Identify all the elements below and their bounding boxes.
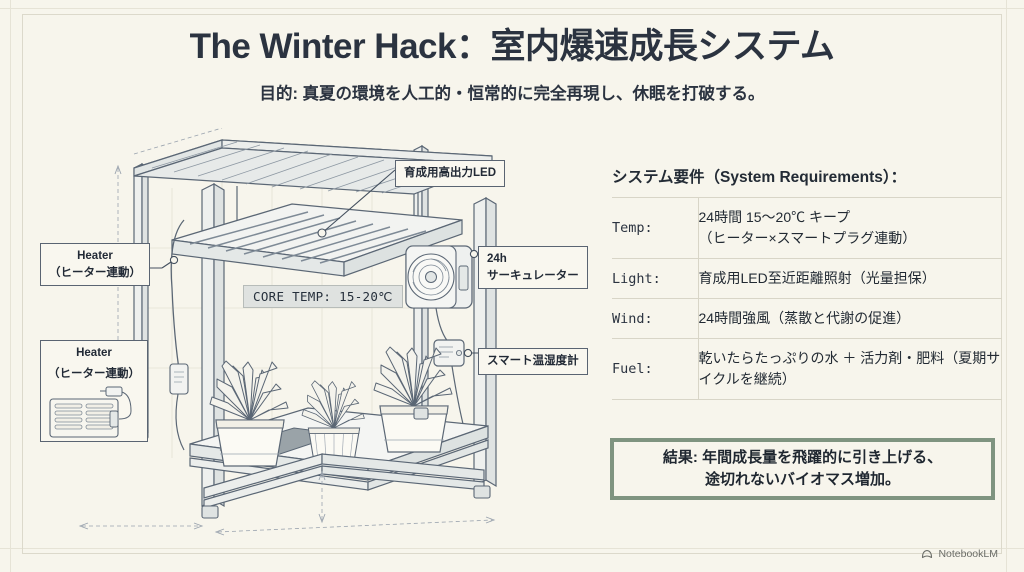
requirements-row: Light:育成用LED至近距離照射（光量担保） [612, 259, 1002, 299]
callout-heater-bottom-line1: Heater [41, 341, 147, 362]
notebooklm-watermark-label: NotebookLM [938, 548, 998, 560]
callout-led-label: 育成用高出力LED [404, 167, 496, 179]
page-subtitle: 目的: 真夏の環境を人工的・恒常的に完全再現し、休眠を打破する。 [0, 80, 1024, 104]
requirements-row: Fuel:乾いたらたっぷりの水 ＋ 活力剤・肥料（夏期サイクルを継続） [612, 339, 1002, 400]
requirements-table-body: Temp:24時間 15〜20℃ キープ（ヒーター×スマートプラグ連動）Ligh… [612, 198, 1002, 400]
notebooklm-logo-icon [921, 548, 933, 560]
background-rule-top [0, 8, 1024, 9]
requirements-row-value: 24時間強風（蒸散と代謝の促進） [698, 299, 1002, 339]
callout-circulator-line1: 24h [487, 251, 579, 268]
requirements-panel: システム要件（System Requirements）： Temp:24時間 1… [612, 165, 1002, 400]
result-callout-inner: 結果: 年間成長量を飛躍的に引き上げる、途切れないバイオマス増加。 [614, 442, 991, 496]
callout-circulator-line2: サーキュレーター [487, 268, 579, 285]
requirements-row-key: Fuel: [612, 339, 698, 400]
grow-tent-illustration [22, 128, 602, 548]
requirements-row-value: 育成用LED至近距離照射（光量担保） [698, 259, 1002, 299]
callout-thermometer: スマート温湿度計 [478, 348, 588, 375]
result-callout: 結果: 年間成長量を飛躍的に引き上げる、途切れないバイオマス増加。 [610, 438, 995, 500]
callout-heater-top-line1: Heater [49, 248, 141, 265]
heat-mat-illustration [49, 385, 141, 439]
callout-heater-top: Heater （ヒーター連動） [40, 243, 150, 286]
page-title: The Winter Hack：室内爆速成長システム [0, 26, 1024, 68]
notebooklm-watermark: NotebookLM [921, 548, 998, 560]
requirements-row: Temp:24時間 15〜20℃ キープ（ヒーター×スマートプラグ連動） [612, 198, 1002, 259]
requirements-row-value: 乾いたらたっぷりの水 ＋ 活力剤・肥料（夏期サイクルを継続） [698, 339, 1002, 400]
core-temp-display: CORE TEMP: 15-20℃ [243, 285, 403, 308]
requirements-table: Temp:24時間 15〜20℃ キープ（ヒーター×スマートプラグ連動）Ligh… [612, 197, 1002, 400]
requirements-heading: システム要件（System Requirements）： [612, 165, 1002, 197]
requirements-row-key: Temp: [612, 198, 698, 259]
callout-circulator: 24h サーキュレーター [478, 246, 588, 289]
callout-led: 育成用高出力LED [395, 160, 505, 187]
grow-tent-diagram [22, 128, 602, 548]
callout-heater-top-line2: （ヒーター連動） [49, 265, 141, 282]
requirements-row-key: Wind: [612, 299, 698, 339]
requirements-row-key: Light: [612, 259, 698, 299]
background-rule-bottom [0, 548, 1024, 549]
callout-heater-bottom-line2: （ヒーター連動） [41, 362, 147, 383]
header: The Winter Hack：室内爆速成長システム 目的: 真夏の環境を人工的… [0, 26, 1024, 104]
callout-thermometer-label: スマート温湿度計 [487, 355, 579, 367]
requirements-row: Wind:24時間強風（蒸散と代謝の促進） [612, 299, 1002, 339]
callout-heater-bottom: Heater （ヒーター連動） [40, 340, 148, 442]
requirements-row-value: 24時間 15〜20℃ キープ（ヒーター×スマートプラグ連動） [698, 198, 1002, 259]
result-text: 結果: 年間成長量を飛躍的に引き上げる、途切れないバイオマス増加。 [663, 447, 942, 492]
